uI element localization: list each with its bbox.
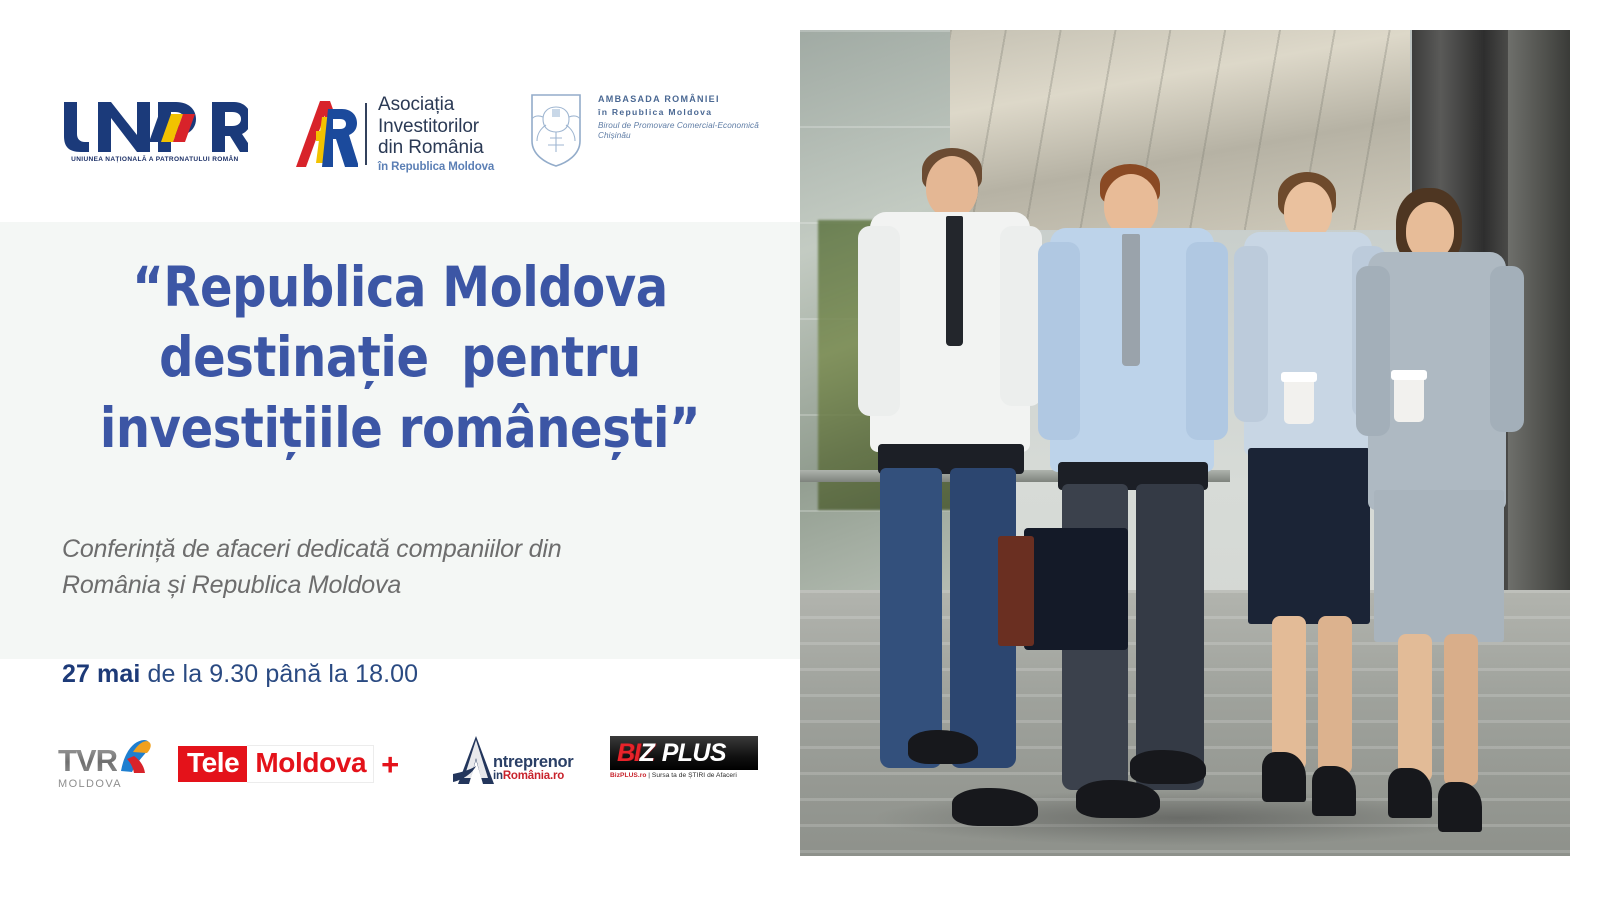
event-time: de la 9.30 până la 18.00 <box>140 660 418 688</box>
tele-word: Tele <box>178 746 247 782</box>
left-content-column: UNIUNEA NAȚIONALĂ A PATRONATULUI ROMÂN <box>0 0 800 901</box>
event-date: 27 mai <box>62 660 140 688</box>
event-datetime: 27 mai de la 9.30 până la 18.00 <box>62 660 418 689</box>
headline-line-2: destinație pentru <box>41 322 759 392</box>
tele-moldova-logo: TeleMoldova + <box>178 744 399 784</box>
embassy-line-4: Chișinău <box>598 131 759 140</box>
tvr-moldova-logo: TVR MOLDOVA <box>58 735 168 797</box>
unpr-logo: UNIUNEA NAȚIONALĂ A PATRONATULUI ROMÂN <box>58 96 248 176</box>
air-line-2: Investitorilor <box>378 116 494 138</box>
antreprenor-line-1: ntreprenor <box>493 754 573 771</box>
embassy-line-1: AMBASADA ROMÂNIEI <box>598 94 759 104</box>
unpr-mark-icon <box>58 96 248 154</box>
bizplus-tagline-brand: BizPLUS.ro <box>610 772 646 779</box>
media-partner-row: TVR MOLDOVA TeleMoldova + <box>0 730 800 810</box>
headline-line-3: investițiile românești” <box>41 393 759 463</box>
page-subtitle: Conferință de afaceri dedicată companiil… <box>62 531 742 603</box>
headline-line-1: “Republica Moldova <box>41 252 759 322</box>
air-line-1: Asociația <box>378 94 494 116</box>
air-divider <box>365 103 367 165</box>
air-monogram-icon <box>292 97 358 171</box>
antreprenor-line-2: inRomânia.ro <box>493 771 573 783</box>
bizplus-bar: BIZ PLUS <box>610 736 758 770</box>
bizplus-plus-word: PLUS <box>662 741 726 766</box>
bizplus-tagline-rest: | Sursa ta de ȘTIRI de Afaceri <box>646 772 737 779</box>
air-line-4: în Republica Moldova <box>378 161 494 174</box>
bizplus-logo: BIZ PLUS BizPLUS.ro | Sursa ta de ȘTIRI … <box>610 736 760 794</box>
embassy-logo: AMBASADA ROMÂNIEI în Republica Moldova B… <box>528 88 778 180</box>
partner-logo-row: UNIUNEA NAȚIONALĂ A PATRONATULUI ROMÂN <box>0 78 800 193</box>
biz-word: BIZ <box>617 741 654 766</box>
bizplus-tagline: BizPLUS.ro | Sursa ta de ȘTIRI de Afacer… <box>610 772 760 779</box>
page-title: “Republica Moldova destinație pentru inv… <box>41 252 759 463</box>
photo-canopy-ribs <box>950 30 1410 230</box>
moldova-word: Moldova <box>247 745 374 783</box>
antreprenor-logo: ntreprenor inRomânia.ro <box>450 734 595 796</box>
tvr-caption: MOLDOVA <box>58 778 168 790</box>
embassy-line-2: în Republica Moldova <box>598 107 759 117</box>
subtitle-line-2: România și Republica Moldova <box>62 567 742 603</box>
air-wordmark: Asociația Investitorilor din România în … <box>378 94 494 174</box>
antreprenor-wordmark: ntreprenor inRomânia.ro <box>493 754 573 783</box>
subtitle-line-1: Conferință de afaceri dedicată companiil… <box>62 531 742 567</box>
biz-bi: BI <box>617 739 640 767</box>
tvr-swoosh-icon <box>118 738 152 774</box>
antreprenor-in: in <box>493 770 503 782</box>
biz-z: Z <box>640 739 654 767</box>
hero-photo <box>800 30 1570 856</box>
embassy-line-3: Biroul de Promovare Comercial-Economică <box>598 121 759 130</box>
air-line-3: din România <box>378 137 494 159</box>
antreprenor-domain: România.ro <box>503 770 564 782</box>
poster-root: UNIUNEA NAȚIONALĂ A PATRONATULUI ROMÂN <box>0 0 1600 901</box>
tvr-wordmark: TVR <box>58 746 117 775</box>
embassy-wordmark: AMBASADA ROMÂNIEI în Republica Moldova B… <box>598 94 759 140</box>
tele-plus-icon: + <box>381 749 399 780</box>
unpr-caption: UNIUNEA NAȚIONALĂ A PATRONATULUI ROMÂN <box>58 156 252 163</box>
air-logo: Asociația Investitorilor din România în … <box>292 92 502 176</box>
coat-of-arms-icon <box>528 91 584 169</box>
tvr-mark: TVR <box>58 735 168 775</box>
